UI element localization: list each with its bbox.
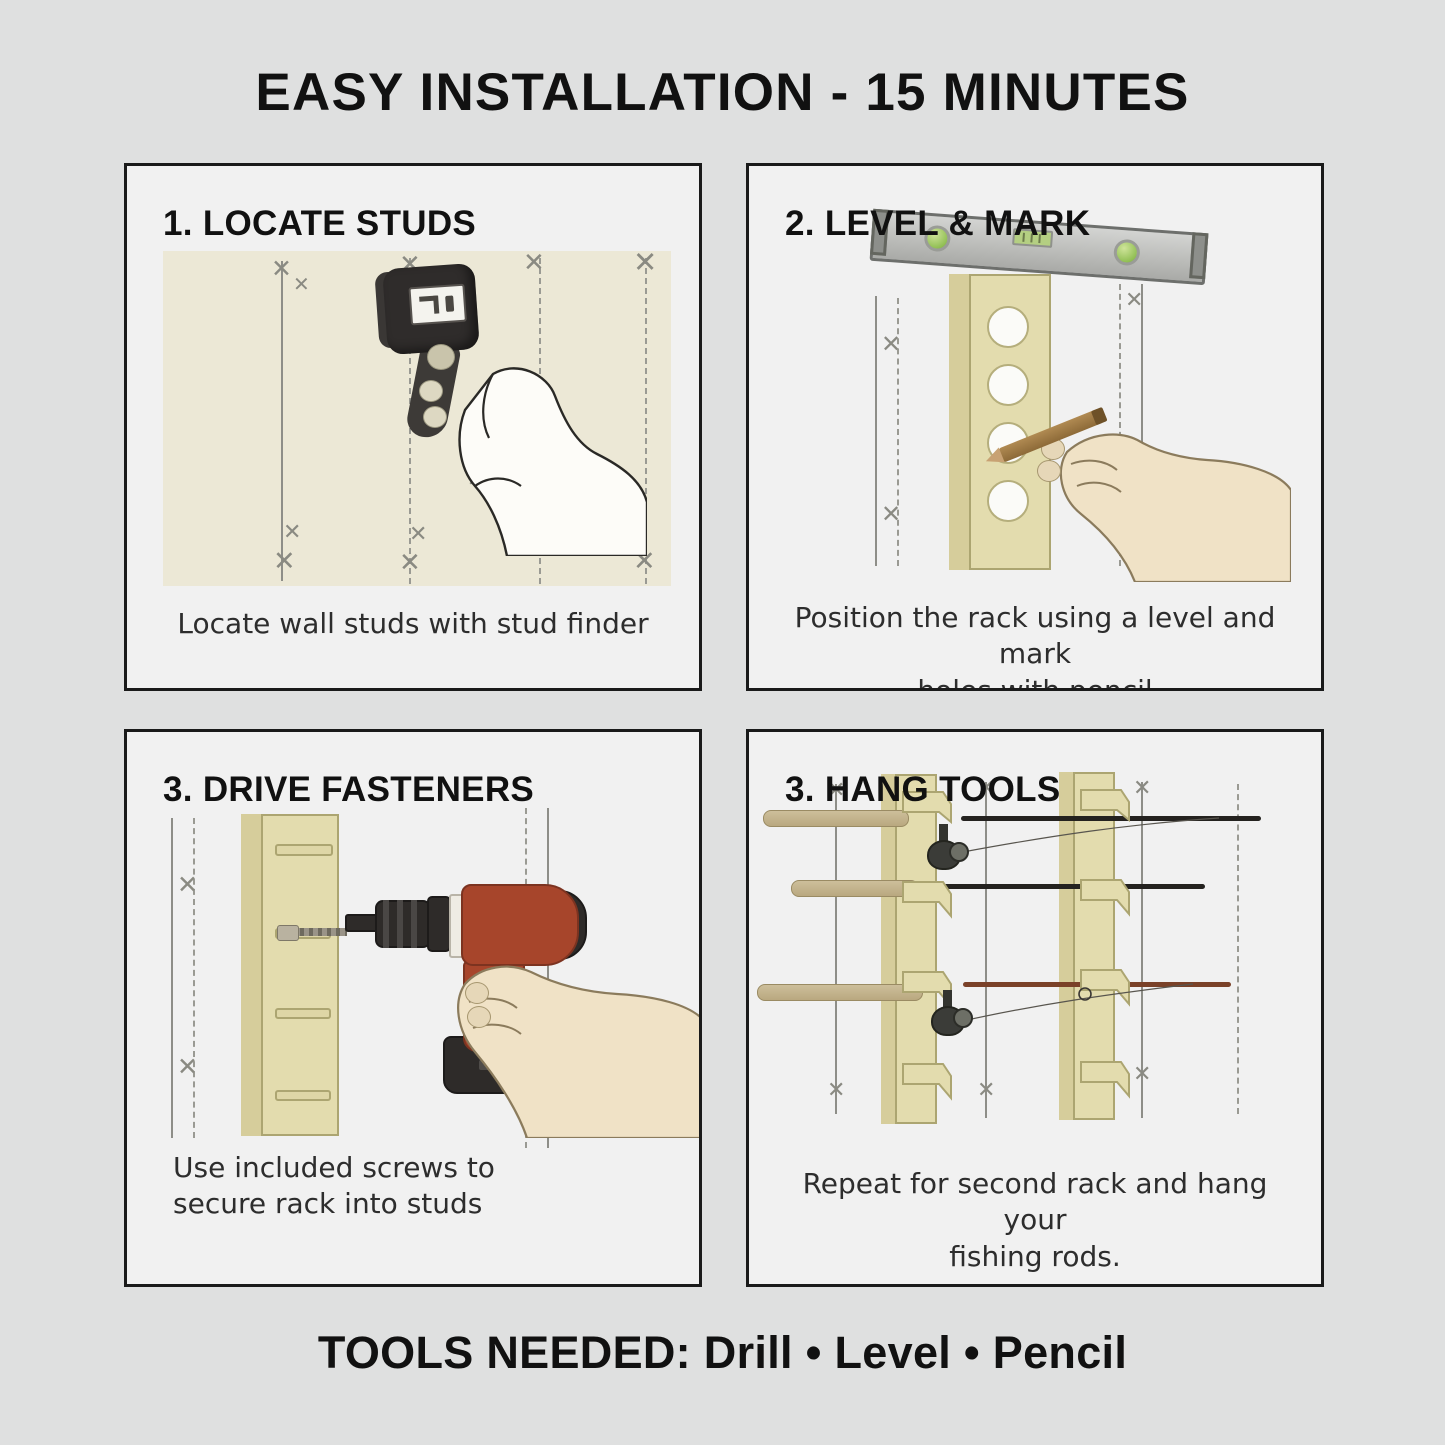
chuck-rib xyxy=(397,900,403,948)
step-4-caption: Repeat for second rack and hang your fis… xyxy=(771,1166,1299,1275)
finger-knuckle xyxy=(419,380,443,402)
separator-bullet: • xyxy=(806,1327,822,1378)
page-title: EASY INSTALLATION - 15 MINUTES xyxy=(0,62,1445,123)
rack-slot xyxy=(275,1090,331,1101)
infographic-page: EASY INSTALLATION - 15 MINUTES ✕ ✕ ✕ ✕ ✕… xyxy=(0,0,1445,1445)
reel-spool xyxy=(949,842,969,862)
step-panel-1: ✕ ✕ ✕ ✕ ✕ ✕ ✕ ✕ ✕ ✕ ✕ ✕ ✕ xyxy=(124,163,702,691)
mounting-hole xyxy=(987,480,1029,522)
mounting-hole xyxy=(987,306,1029,348)
stud-mark-x: ✕ xyxy=(881,332,901,356)
level-end-cap xyxy=(1189,232,1208,279)
stud-mark-x: ✕ xyxy=(523,250,545,276)
stud-mark-x: ✕ xyxy=(177,1054,198,1079)
tool-level: Level xyxy=(835,1327,952,1378)
stud-line xyxy=(875,296,877,566)
step-1-title: 1. LOCATE STUDS xyxy=(163,204,476,244)
stud-mark-x: ✕ xyxy=(273,548,296,575)
tools-needed-label: TOOLS NEEDED: xyxy=(318,1327,691,1378)
finger-knuckle xyxy=(423,406,447,428)
stud-mark-x: ✕ xyxy=(177,872,198,897)
step-3-caption: Use included screws to secure rack into … xyxy=(173,1150,677,1223)
steps-grid: ✕ ✕ ✕ ✕ ✕ ✕ ✕ ✕ ✕ ✕ ✕ ✕ ✕ xyxy=(124,163,1324,1287)
step-2-caption-line-2: holes with pencil xyxy=(771,673,1299,691)
step-4-caption-line-2: fishing rods. xyxy=(771,1239,1299,1275)
step-panel-4: ✕ ✕ ✕ ✕ ✕ ✕ xyxy=(746,729,1324,1287)
stud-line xyxy=(171,818,173,1138)
chuck-rib xyxy=(411,900,417,948)
step-3-caption-line-1: Use included screws to xyxy=(173,1150,677,1186)
stud-mark-x: ✕ xyxy=(881,502,901,526)
tool-pencil: Pencil xyxy=(993,1327,1127,1378)
step-4-title: 3. HANG TOOLS xyxy=(785,770,1061,810)
step-3-caption-line-2: secure rack into studs xyxy=(173,1186,677,1222)
rack-slot xyxy=(275,1008,331,1019)
stud-mark-x: ✕ xyxy=(271,256,292,281)
step-1-caption: Locate wall studs with stud finder xyxy=(149,606,677,642)
stud-mark-x: ✕ xyxy=(633,248,657,277)
rack-board-edge xyxy=(241,814,263,1136)
stud-line xyxy=(193,818,195,1138)
chuck-rib xyxy=(383,900,389,948)
tools-needed-footer: TOOLS NEEDED: Drill • Level • Pencil xyxy=(0,1327,1445,1379)
level-vial-right xyxy=(1113,239,1141,267)
hand-outline xyxy=(447,948,699,1138)
stud-finder-display xyxy=(408,284,467,326)
step-panel-2: ✕ ✕ ✕ ✕ xyxy=(746,163,1324,691)
step-panel-3: ✕ ✕ ✕ xyxy=(124,729,702,1287)
stud-mark-x: ✕ xyxy=(283,522,301,544)
stud-mark-x: ✕ xyxy=(293,274,310,294)
finger-knuckle xyxy=(465,982,489,1004)
step-3-title: 3. DRIVE FASTENERS xyxy=(163,770,534,810)
step-4-caption-line-1: Repeat for second rack and hang your xyxy=(771,1166,1299,1239)
tool-drill: Drill xyxy=(704,1327,793,1378)
thumb-pad xyxy=(427,344,455,370)
finger-knuckle xyxy=(1037,460,1061,482)
stud-mark-x: ✕ xyxy=(1125,290,1143,312)
separator-bullet: • xyxy=(964,1327,980,1378)
reel-spool xyxy=(953,1008,973,1028)
drill-collar xyxy=(427,896,451,952)
finger-knuckle xyxy=(467,1006,491,1028)
step-2-caption-line-1: Position the rack using a level and mark xyxy=(771,600,1299,673)
step-2-caption: Position the rack using a level and mark… xyxy=(771,600,1299,691)
screw-head xyxy=(277,925,299,941)
mounting-hole xyxy=(987,364,1029,406)
drill-bit-holder xyxy=(345,914,379,932)
step-2-title: 2. LEVEL & MARK xyxy=(785,204,1090,244)
rack-board-edge xyxy=(949,274,971,570)
rack-slot xyxy=(275,844,333,856)
stud-finder-icon xyxy=(382,263,480,355)
screw-shank xyxy=(295,928,347,936)
